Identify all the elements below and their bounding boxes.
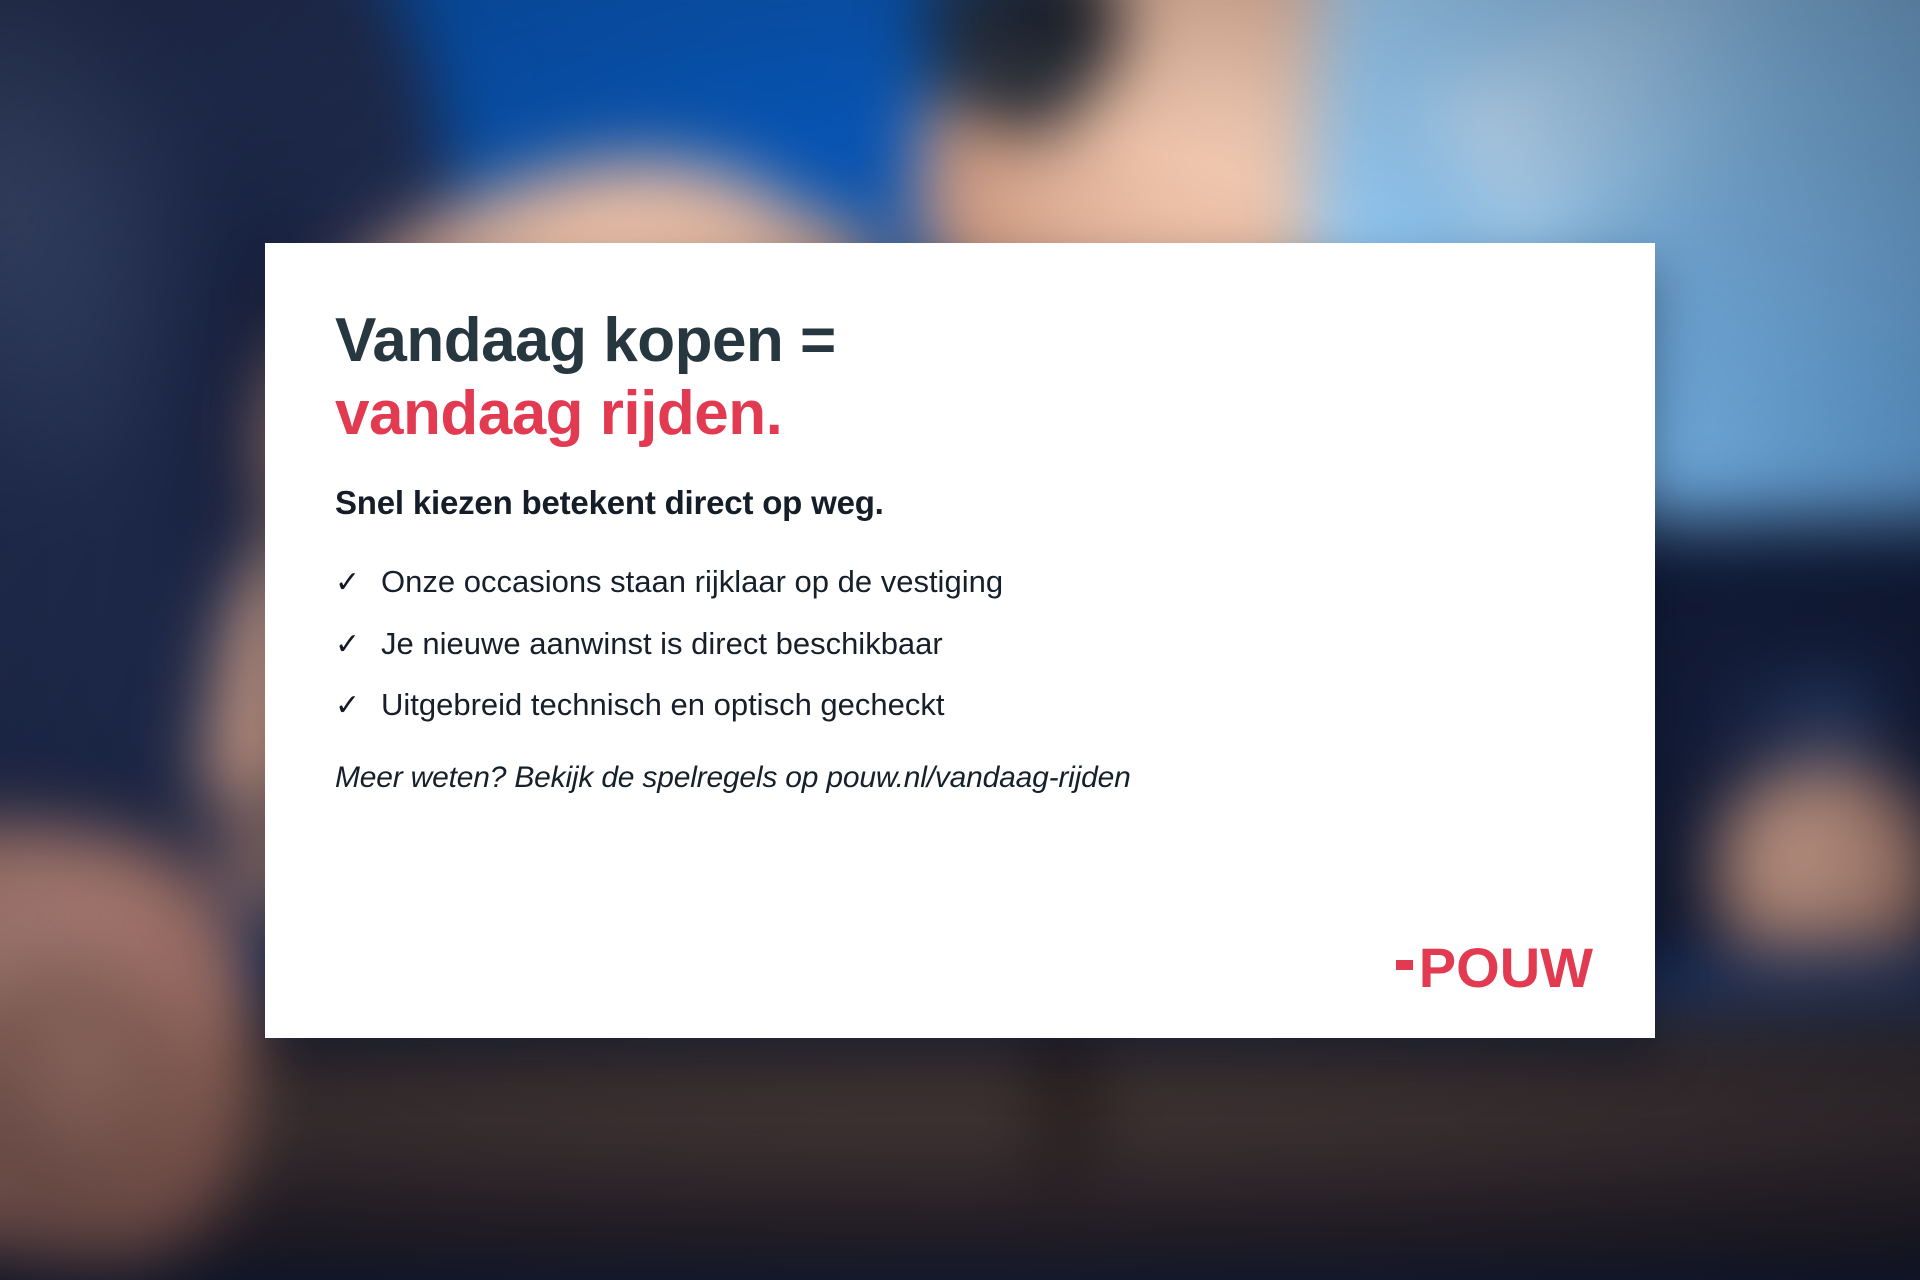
check-icon: ✓: [335, 568, 363, 598]
list-item: ✓ Uitgebreid technisch en optisch gechec…: [335, 685, 1585, 725]
promo-card: Vandaag kopen = vandaag rijden. Snel kie…: [265, 243, 1655, 1038]
page-title: Vandaag kopen = vandaag rijden.: [335, 305, 1585, 450]
check-icon: ✓: [335, 630, 363, 660]
list-item: ✓ Onze occasions staan rijklaar op de ve…: [335, 562, 1585, 602]
footnote-link[interactable]: Meer weten? Bekijk de spelregels op pouw…: [335, 761, 1585, 795]
list-item-label: Onze occasions staan rijklaar op de vest…: [381, 562, 1003, 602]
headline-line-1: Vandaag kopen =: [335, 306, 836, 375]
subheadline: Snel kiezen betekent direct op weg.: [335, 484, 1585, 522]
pouw-logo[interactable]: POUW: [1396, 940, 1593, 996]
benefits-list: ✓ Onze occasions staan rijklaar op de ve…: [335, 562, 1585, 725]
check-icon: ✓: [335, 691, 363, 721]
list-item-label: Je nieuwe aanwinst is direct beschikbaar: [381, 624, 943, 664]
list-item: ✓ Je nieuwe aanwinst is direct beschikba…: [335, 624, 1585, 664]
logo-wordmark: POUW: [1419, 940, 1593, 996]
headline-line-2: vandaag rijden.: [335, 378, 1585, 451]
dash-mark-icon: [1396, 960, 1413, 970]
list-item-label: Uitgebreid technisch en optisch gecheckt: [381, 685, 945, 725]
